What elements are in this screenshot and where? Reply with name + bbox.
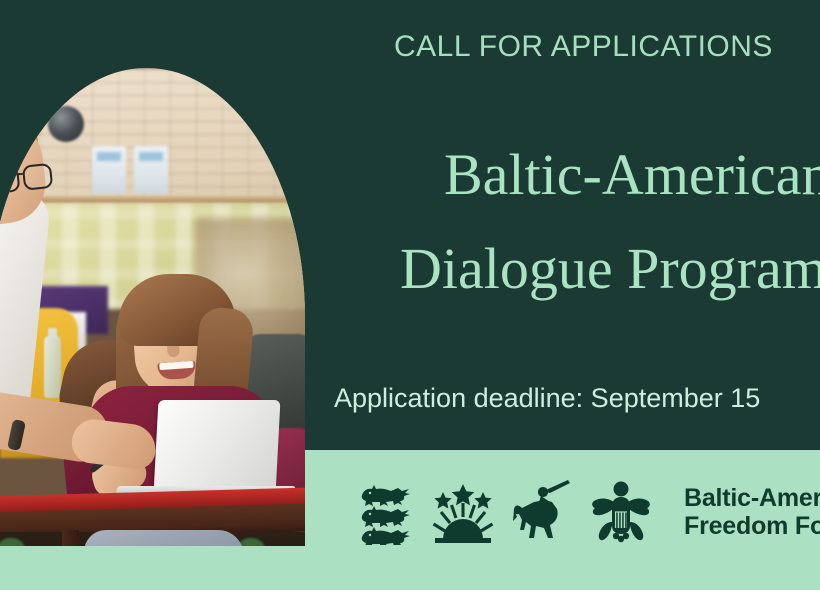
photo-wall-shelf (34, 196, 305, 203)
glasses-bridge (15, 173, 23, 176)
photo-wall-clock (48, 106, 84, 142)
foundation-name-line-1: Baltic-American (684, 484, 820, 513)
photo-teacher-glasses (0, 163, 53, 191)
photo-main-student-smile (157, 361, 196, 381)
estonia-coat-of-arms-icon (358, 479, 414, 545)
classroom-photo-scene (0, 68, 305, 546)
deadline-text: Application deadline: September 15 (334, 383, 760, 414)
foundation-logo: Baltic-American Freedom Foundation (358, 478, 820, 546)
lithuania-vytis-icon (512, 478, 572, 546)
poster-canvas: CALL FOR APPLICATIONS Baltic-American Di… (0, 0, 820, 590)
page-title: Baltic-American Dialogue Program (444, 128, 820, 316)
headline-line-1: Baltic-American (444, 142, 820, 207)
latvia-coat-of-arms-icon (432, 479, 494, 545)
united-states-great-seal-icon (590, 478, 652, 546)
foundation-name: Baltic-American Freedom Foundation (684, 484, 820, 541)
photo-wall-poster-right (134, 146, 168, 194)
headline-line-2: Dialogue Program (400, 222, 820, 316)
photo-student-jeans (84, 530, 244, 546)
photo-wall-poster-left (92, 146, 126, 194)
kicker-text: CALL FOR APPLICATIONS (394, 30, 773, 64)
foundation-name-line-2: Freedom Foundation (684, 512, 820, 541)
photo-laptop-screen (154, 400, 281, 494)
photo-water-bottle (44, 336, 61, 398)
glasses-lens-right (22, 163, 53, 191)
photo-table-leg (62, 530, 79, 546)
hero-photo (0, 68, 305, 546)
